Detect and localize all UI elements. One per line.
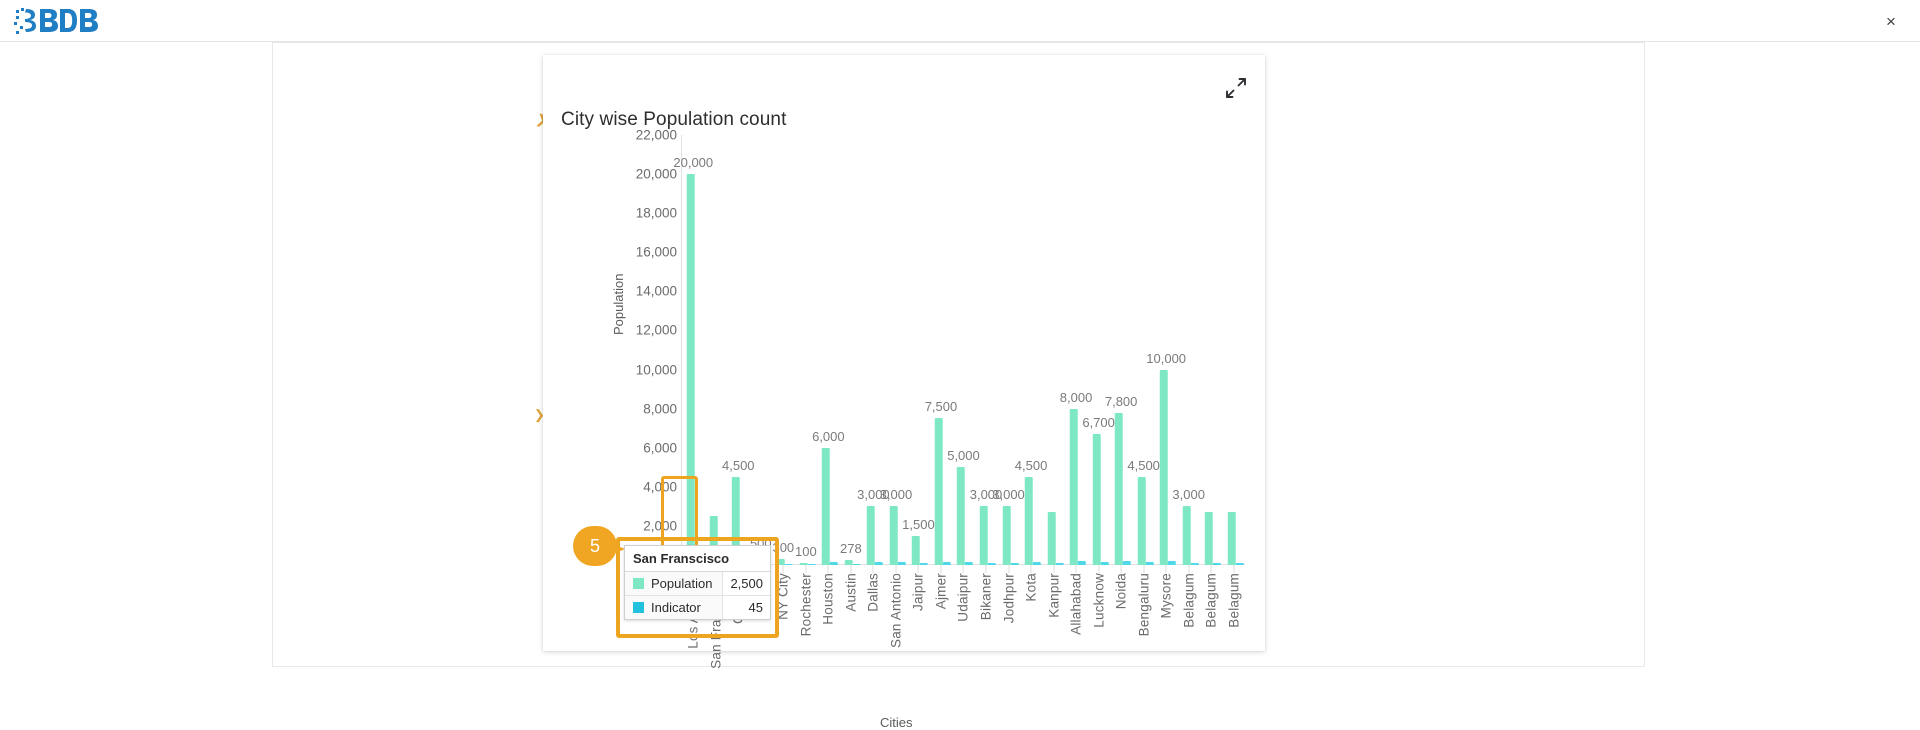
x-axis-category-label: Kota bbox=[1024, 573, 1039, 602]
x-axis-category: Bikaner bbox=[975, 565, 998, 695]
x-axis-category-label: Udaipur bbox=[956, 573, 971, 622]
tooltip-color-swatch bbox=[633, 578, 644, 589]
bar-group[interactable]: 500 bbox=[750, 135, 773, 565]
x-axis-category-label: Rochester bbox=[798, 573, 813, 636]
x-axis-category: Allahabad bbox=[1065, 565, 1088, 695]
tooltip-header: San Franscisco bbox=[625, 546, 770, 572]
bar-value-label: 278 bbox=[840, 541, 862, 556]
bar-group[interactable] bbox=[1222, 135, 1245, 565]
bdb-logo bbox=[14, 3, 100, 39]
bar-group[interactable]: 1,500 bbox=[907, 135, 930, 565]
x-axis-category-label: Austin bbox=[843, 573, 858, 612]
bar-group[interactable]: 4,500 bbox=[727, 135, 750, 565]
bar-population[interactable] bbox=[1182, 506, 1190, 565]
x-axis-category-label: Bikaner bbox=[979, 573, 994, 620]
x-axis-category: Mysore bbox=[1155, 565, 1178, 695]
x-axis-category-label: Noida bbox=[1114, 573, 1129, 609]
bar-group[interactable] bbox=[1200, 135, 1223, 565]
page-canvas: ❯ ❯ City wise Population count Populatio… bbox=[0, 42, 1920, 675]
x-axis-category: Belagum bbox=[1177, 565, 1200, 695]
bar-group[interactable]: 3,000 bbox=[1177, 135, 1200, 565]
bar-population[interactable] bbox=[1025, 477, 1033, 565]
tooltip-row: Indicator45 bbox=[625, 596, 770, 619]
x-axis-category: San Antonio bbox=[885, 565, 908, 695]
x-axis-category-label: Dallas bbox=[866, 573, 881, 612]
bar-population[interactable] bbox=[912, 536, 920, 565]
bar-population[interactable] bbox=[890, 506, 898, 565]
bar-series-group: 20,0004,5005003001006,0002783,0003,0001,… bbox=[682, 135, 1245, 565]
bar-group[interactable]: 3,000 bbox=[885, 135, 908, 565]
x-axis-category-label: Mysore bbox=[1159, 573, 1174, 618]
x-axis-category-label: Lucknow bbox=[1091, 573, 1106, 628]
plot-area: Population 02,0004,0006,0008,00010,00012… bbox=[605, 135, 1245, 565]
y-axis-tick-label: 20,000 bbox=[611, 167, 677, 182]
bar-group[interactable]: 6,000 bbox=[817, 135, 840, 565]
x-axis-category: Jodhpur bbox=[997, 565, 1020, 695]
bar-population[interactable] bbox=[935, 418, 943, 565]
y-axis-tick-label: 10,000 bbox=[611, 362, 677, 377]
x-axis-category: Kanpur bbox=[1042, 565, 1065, 695]
tooltip-rows: Population2,500Indicator45 bbox=[625, 572, 770, 619]
x-axis-title: Cities bbox=[880, 715, 913, 730]
bar-population[interactable] bbox=[1002, 506, 1010, 565]
x-axis-category: Belagum bbox=[1222, 565, 1245, 695]
step-badge-number: 5 bbox=[573, 526, 617, 566]
x-axis-category: Lucknow bbox=[1087, 565, 1110, 695]
x-axis-category-label: Jaipur bbox=[911, 573, 926, 611]
bar-group[interactable] bbox=[1042, 135, 1065, 565]
bar-group[interactable]: 7,500 bbox=[930, 135, 953, 565]
y-axis-tick-label: 14,000 bbox=[611, 284, 677, 299]
bar-population[interactable] bbox=[822, 448, 830, 565]
bar-population[interactable] bbox=[957, 467, 965, 565]
bar-population[interactable] bbox=[1160, 370, 1168, 565]
bar-group[interactable]: 100 bbox=[795, 135, 818, 565]
x-axis-category: Rochester bbox=[795, 565, 818, 695]
close-icon: × bbox=[1886, 13, 1896, 30]
tooltip-series-value: 2,500 bbox=[722, 572, 770, 595]
bar-population[interactable] bbox=[1070, 409, 1078, 565]
bar-population[interactable] bbox=[1137, 477, 1145, 565]
x-axis-category: Ajmer bbox=[930, 565, 953, 695]
x-axis-category: Belagum bbox=[1200, 565, 1223, 695]
bar-population[interactable] bbox=[867, 506, 875, 565]
y-axis-tick-label: 22,000 bbox=[611, 128, 677, 143]
x-axis-category-label: San Antonio bbox=[888, 573, 903, 648]
tooltip-color-swatch bbox=[633, 602, 644, 613]
x-axis-category-label: Kanpur bbox=[1046, 573, 1061, 618]
x-axis-category: Jaipur bbox=[907, 565, 930, 695]
chart-tooltip: San Franscisco Population2,500Indicator4… bbox=[624, 545, 771, 620]
x-axis-category-label: Bengaluru bbox=[1136, 573, 1151, 636]
y-axis-tick-label: 8,000 bbox=[611, 401, 677, 416]
tooltip-series-label: Population bbox=[651, 576, 712, 591]
close-button[interactable]: × bbox=[1876, 6, 1906, 36]
tooltip-row-left: Population bbox=[625, 572, 722, 595]
x-axis-category: Bengaluru bbox=[1132, 565, 1155, 695]
x-axis-category: Kota bbox=[1020, 565, 1043, 695]
bar-population[interactable] bbox=[1092, 434, 1100, 565]
y-axis-tick-label: 18,000 bbox=[611, 206, 677, 221]
bar-population[interactable] bbox=[1227, 512, 1235, 565]
x-axis-category-label: Belagum bbox=[1226, 573, 1241, 628]
bar-group[interactable]: 4,500 bbox=[1020, 135, 1043, 565]
bar-group[interactable]: 6,700 bbox=[1087, 135, 1110, 565]
bar-group[interactable]: 8,000 bbox=[1065, 135, 1088, 565]
x-axis-category: Houston bbox=[817, 565, 840, 695]
bar-group[interactable]: 7,800 bbox=[1110, 135, 1133, 565]
expand-arrows-icon[interactable] bbox=[1223, 75, 1249, 101]
bar-group[interactable]: 3,000 bbox=[997, 135, 1020, 565]
bar-value-label: 100 bbox=[795, 544, 817, 559]
y-axis-tick-label: 12,000 bbox=[611, 323, 677, 338]
y-axis-tick-label: 16,000 bbox=[611, 245, 677, 260]
x-axis-category-label: Houston bbox=[821, 573, 836, 625]
bar-population[interactable] bbox=[1047, 512, 1055, 565]
x-axis-category: Noida bbox=[1110, 565, 1133, 695]
x-axis-category-label: Jodhpur bbox=[1001, 573, 1016, 623]
bar-group[interactable] bbox=[705, 135, 728, 565]
tooltip-row-left: Indicator bbox=[625, 596, 722, 619]
y-axis-tick-label: 6,000 bbox=[611, 440, 677, 455]
tooltip-series-value: 45 bbox=[722, 596, 770, 619]
x-axis-category-label: Allahabad bbox=[1069, 573, 1084, 635]
tooltip-row: Population2,500 bbox=[625, 572, 770, 596]
x-axis-category-label: Belagum bbox=[1181, 573, 1196, 628]
bar-group[interactable]: 300 bbox=[772, 135, 795, 565]
x-axis-category-label: Ajmer bbox=[933, 573, 948, 609]
x-axis-category-label: Belagum bbox=[1204, 573, 1219, 628]
tooltip-series-label: Indicator bbox=[651, 600, 701, 615]
top-bar: × bbox=[0, 0, 1920, 42]
bar-population[interactable] bbox=[980, 506, 988, 565]
x-axis-category: Austin bbox=[840, 565, 863, 695]
bar-population[interactable] bbox=[1205, 512, 1213, 565]
step-badge: 5 bbox=[573, 526, 625, 566]
x-axis-category: Udaipur bbox=[952, 565, 975, 695]
bar-population[interactable] bbox=[1115, 413, 1123, 565]
x-axis-category: Dallas bbox=[862, 565, 885, 695]
